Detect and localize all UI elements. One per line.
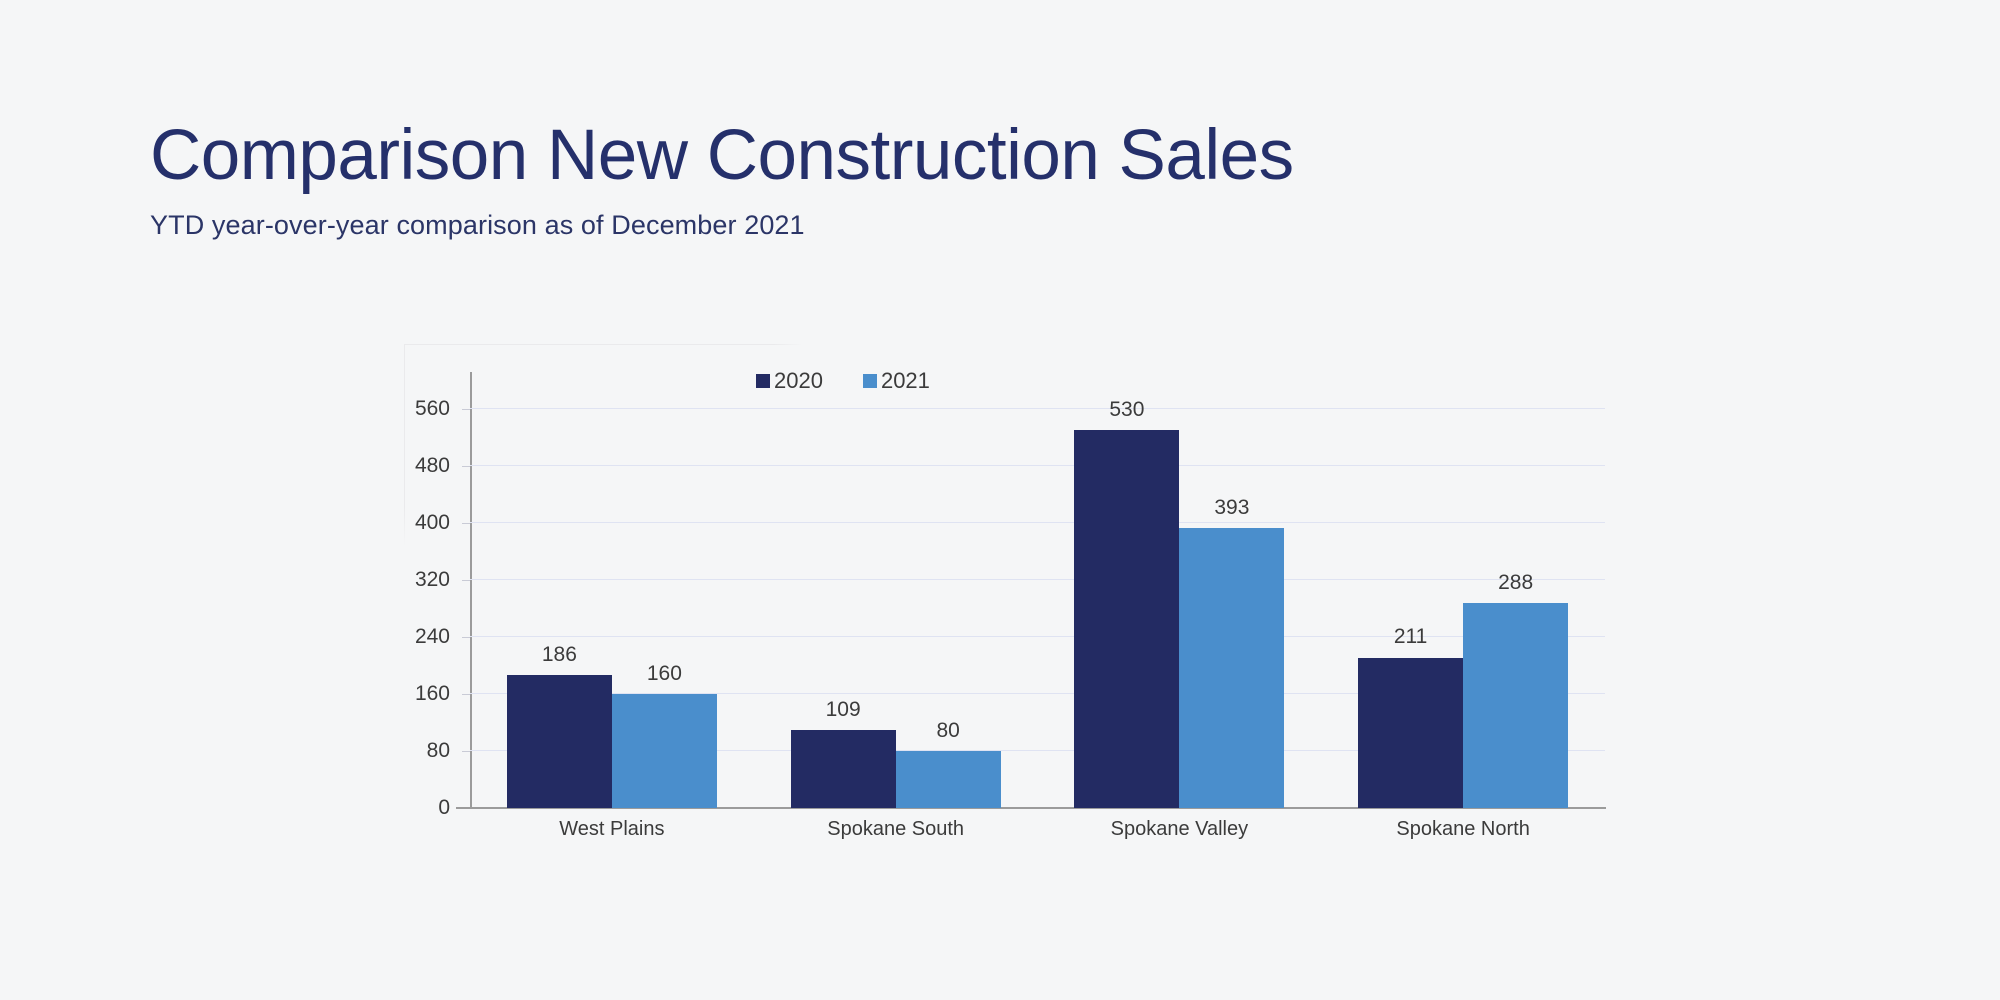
y-axis-tick-mark	[462, 523, 470, 524]
bar-2021-west-plains[interactable]	[612, 694, 717, 808]
bar-2020-west-plains[interactable]	[507, 675, 612, 808]
bar-value-label: 80	[936, 719, 959, 743]
plot-area	[470, 380, 1605, 808]
bar-2020-spokane-north[interactable]	[1358, 658, 1463, 809]
y-axis-tick-mark	[462, 751, 470, 752]
gridline	[470, 636, 1605, 637]
y-axis-tick-mark	[462, 409, 470, 410]
bar-2021-spokane-valley[interactable]	[1179, 528, 1284, 808]
bar-value-label: 393	[1214, 496, 1249, 520]
gridline	[470, 522, 1605, 523]
legend-swatch-icon-2021	[863, 374, 877, 388]
x-axis-category-label: West Plains	[559, 818, 664, 841]
bar-chart: 080160240320400480560 186160West Plains1…	[0, 0, 2000, 1000]
y-axis-tick-mark	[462, 466, 470, 467]
legend-item-2021[interactable]: 2021	[863, 370, 930, 392]
y-axis-tick-label: 160	[380, 682, 450, 706]
y-axis-tick-label: 320	[380, 568, 450, 592]
x-axis-category-label: Spokane Valley	[1111, 818, 1249, 841]
chart-legend: 2020 2021	[756, 370, 930, 392]
x-axis-category-label: Spokane South	[827, 818, 964, 841]
bar-2020-spokane-south[interactable]	[791, 730, 896, 808]
y-axis-tick-mark	[462, 580, 470, 581]
y-axis-tick-label: 0	[380, 796, 450, 820]
bar-value-label: 530	[1109, 398, 1144, 422]
y-axis-tick-label: 480	[380, 454, 450, 478]
bar-2021-spokane-north[interactable]	[1463, 603, 1568, 808]
legend-label-2020: 2020	[774, 370, 823, 392]
y-axis-tick-label: 560	[380, 397, 450, 421]
y-axis-tick-label: 80	[380, 739, 450, 763]
bar-value-label: 211	[1394, 625, 1427, 649]
bar-2021-spokane-south[interactable]	[896, 751, 1001, 808]
legend-swatch-icon-2020	[756, 374, 770, 388]
legend-label-2021: 2021	[881, 370, 930, 392]
bar-value-label: 186	[542, 643, 577, 667]
y-axis-tick-mark	[462, 637, 470, 638]
gridline	[470, 465, 1605, 466]
gridline	[470, 408, 1605, 409]
bar-value-label: 288	[1498, 571, 1533, 595]
y-axis-tick-label: 400	[380, 511, 450, 535]
legend-item-2020[interactable]: 2020	[756, 370, 823, 392]
bar-value-label: 109	[826, 698, 861, 722]
bar-value-label: 160	[647, 662, 682, 686]
y-axis-tick-label: 240	[380, 625, 450, 649]
y-axis-tick-mark	[462, 694, 470, 695]
gridline	[470, 579, 1605, 580]
bar-2020-spokane-valley[interactable]	[1074, 430, 1179, 808]
x-axis-category-label: Spokane North	[1396, 818, 1529, 841]
